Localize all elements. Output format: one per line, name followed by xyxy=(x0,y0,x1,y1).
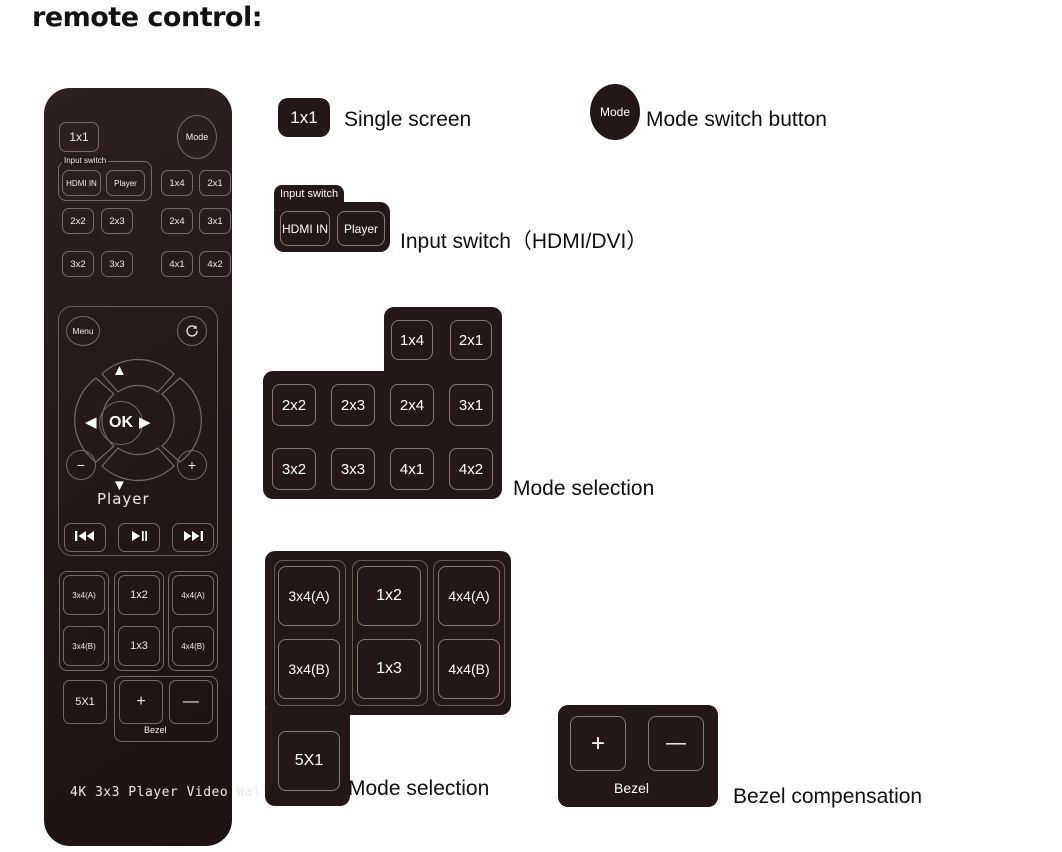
callout-key-4x4a-label: 4x4(A) xyxy=(448,588,489,604)
callout-key-3x2[interactable]: 3x2 xyxy=(272,448,316,490)
remote-key-5x1[interactable]: 5X1 xyxy=(63,680,107,724)
remote-key-3x4a[interactable]: 3x4(A) xyxy=(63,575,105,615)
remote-key-ok[interactable]: OK xyxy=(99,401,143,445)
callout-key-bezel-plus-label: + xyxy=(591,730,605,758)
remote-key-4x4b-label: 4x4(B) xyxy=(181,642,205,651)
callout-key-5x1-label: 5X1 xyxy=(295,752,323,770)
callout-key-player-src-label: Player xyxy=(344,222,378,236)
callout-key-3x1[interactable]: 3x1 xyxy=(449,384,493,426)
callout-single-screen-text: Single screen xyxy=(344,108,471,132)
remote-key-1x4[interactable]: 1x4 xyxy=(161,170,193,196)
remote-key-bezel-minus[interactable]: — xyxy=(169,680,213,724)
remote-key-1x1-label: 1x1 xyxy=(69,130,88,144)
callout-key-4x4a[interactable]: 4x4(A) xyxy=(438,566,500,626)
remote-input-switch-group-label: Input switch xyxy=(62,156,108,165)
remote-key-bezel-minus-label: — xyxy=(183,693,199,711)
callout-key-3x4a[interactable]: 3x4(A) xyxy=(278,566,340,626)
remote-key-4x2[interactable]: 4x2 xyxy=(199,251,231,277)
remote-key-2x4[interactable]: 2x4 xyxy=(161,208,193,234)
callout-input-switch-group-label: Input switch xyxy=(280,188,338,200)
remote-key-hdmi-in[interactable]: HDMI IN xyxy=(62,170,101,196)
remote-key-2x2-label: 2x2 xyxy=(70,216,85,227)
dpad-left-icon[interactable]: ◀ xyxy=(85,415,97,430)
remote-key-1x3-label: 1x3 xyxy=(130,640,148,652)
callout-key-2x3[interactable]: 2x3 xyxy=(331,384,375,426)
remote-key-volume-minus-label: − xyxy=(77,457,85,473)
remote-key-3x1-label: 3x1 xyxy=(207,216,222,227)
remote-key-4x1-label: 4x1 xyxy=(169,259,184,270)
remote-key-volume-plus[interactable]: + xyxy=(177,450,207,480)
remote-key-5x1-label: 5X1 xyxy=(75,696,95,708)
remote-key-2x1-label: 2x1 xyxy=(207,178,222,189)
callout-key-4x1-label: 4x1 xyxy=(400,461,424,478)
remote-control-body: 1x1 Mode Input switch HDMI IN Player 1x4… xyxy=(44,88,232,846)
remote-key-4x4a[interactable]: 4x4(A) xyxy=(172,575,214,615)
remote-key-2x3-label: 2x3 xyxy=(109,216,124,227)
callout-input-switch-text: Input switch（HDMI/DVI） xyxy=(400,225,647,255)
previous-track-icon xyxy=(74,530,96,545)
callout-key-bezel-minus-label: — xyxy=(666,732,686,755)
callout-key-1x3-label: 1x3 xyxy=(376,660,402,678)
callout-key-5x1[interactable]: 5X1 xyxy=(278,731,340,791)
remote-key-ok-label: OK xyxy=(109,414,133,432)
remote-key-1x3[interactable]: 1x3 xyxy=(118,626,160,666)
callout-key-3x2-label: 3x2 xyxy=(282,461,306,478)
remote-model-label: 4K 3x3 Player Video Wall xyxy=(70,785,270,800)
remote-key-3x4a-label: 3x4(A) xyxy=(72,591,96,600)
remote-key-hdmi-in-label: HDMI IN xyxy=(66,179,97,188)
remote-key-3x3-label: 3x3 xyxy=(109,259,124,270)
callout-key-3x4a-label: 3x4(A) xyxy=(288,588,329,604)
remote-key-bezel-plus-label: + xyxy=(136,693,145,711)
callout-key-2x2[interactable]: 2x2 xyxy=(272,384,316,426)
dpad-right-icon[interactable]: ▶ xyxy=(139,415,151,430)
dpad-up-icon[interactable]: ▲ xyxy=(112,363,127,378)
remote-key-player-src[interactable]: Player xyxy=(106,170,145,196)
callout-key-3x4b[interactable]: 3x4(B) xyxy=(278,639,340,699)
remote-key-2x4-label: 2x4 xyxy=(169,216,184,227)
remote-key-player-src-label: Player xyxy=(114,179,137,188)
remote-bezel-label: Bezel xyxy=(144,725,167,735)
callout-key-2x1[interactable]: 2x1 xyxy=(450,320,492,360)
callout-key-4x4b-label: 4x4(B) xyxy=(448,661,489,677)
remote-key-bezel-plus[interactable]: + xyxy=(119,680,163,724)
callout-key-1x4[interactable]: 1x4 xyxy=(391,320,433,360)
callout-key-2x4[interactable]: 2x4 xyxy=(390,384,434,426)
callout-key-bezel-plus[interactable]: + xyxy=(570,716,626,771)
remote-key-1x4-label: 1x4 xyxy=(169,178,184,189)
remote-key-3x4b[interactable]: 3x4(B) xyxy=(63,626,105,666)
callout-mode-switch-text: Mode switch button xyxy=(646,108,827,132)
callout-single-screen-key-label: 1x1 xyxy=(278,98,330,137)
callout-single-screen-key[interactable]: 1x1 xyxy=(278,98,330,137)
callout-key-3x3-label: 3x3 xyxy=(341,461,365,478)
remote-key-1x2[interactable]: 1x2 xyxy=(118,575,160,615)
remote-key-play-pause[interactable] xyxy=(118,523,160,552)
callout-mode-selection-bottom-text: Mode selection xyxy=(348,777,489,801)
remote-key-4x1[interactable]: 4x1 xyxy=(161,251,193,277)
callout-key-1x2-label: 1x2 xyxy=(376,587,402,605)
remote-key-3x2[interactable]: 3x2 xyxy=(62,251,94,277)
remote-key-3x1[interactable]: 3x1 xyxy=(199,208,231,234)
callout-bezel-label: Bezel xyxy=(614,780,649,796)
callout-key-2x3-label: 2x3 xyxy=(341,397,365,414)
page-title: remote control: xyxy=(32,2,262,33)
callout-key-player-src[interactable]: Player xyxy=(337,211,385,246)
remote-key-1x2-label: 1x2 xyxy=(130,589,148,601)
callout-key-2x2-label: 2x2 xyxy=(282,397,306,414)
callout-key-hdmi-in-label: HDMI IN xyxy=(282,222,328,236)
play-pause-icon xyxy=(129,530,149,545)
remote-key-3x4b-label: 3x4(B) xyxy=(72,642,96,651)
remote-key-2x1[interactable]: 2x1 xyxy=(199,170,231,196)
remote-key-mode-label: Mode xyxy=(186,132,209,142)
remote-key-3x3[interactable]: 3x3 xyxy=(101,251,133,277)
callout-key-1x2[interactable]: 1x2 xyxy=(357,566,421,626)
callout-mode-switch-key[interactable]: Mode xyxy=(590,84,640,140)
callout-key-3x3[interactable]: 3x3 xyxy=(331,448,375,490)
remote-key-volume-plus-label: + xyxy=(188,457,196,473)
remote-key-4x4a-label: 4x4(A) xyxy=(181,591,205,600)
remote-key-previous[interactable] xyxy=(64,523,106,552)
callout-bezel-text: Bezel compensation xyxy=(733,785,922,809)
callout-key-2x1-label: 2x1 xyxy=(459,332,483,349)
remote-key-2x3[interactable]: 2x3 xyxy=(101,208,133,234)
callout-key-bezel-minus[interactable]: — xyxy=(648,716,704,771)
remote-player-section-label: Player xyxy=(97,490,150,508)
callout-key-2x4-label: 2x4 xyxy=(400,397,424,414)
callout-key-3x4b-label: 3x4(B) xyxy=(288,661,329,677)
remote-key-mode[interactable]: Mode xyxy=(177,115,217,159)
callout-mode-selection-top-text: Mode selection xyxy=(513,477,654,501)
remote-key-4x4b[interactable]: 4x4(B) xyxy=(172,626,214,666)
callout-key-4x1[interactable]: 4x1 xyxy=(390,448,434,490)
callout-key-4x4b[interactable]: 4x4(B) xyxy=(438,639,500,699)
remote-key-next[interactable] xyxy=(172,523,214,552)
callout-mode-switch-key-label: Mode xyxy=(600,105,630,119)
remote-key-1x1[interactable]: 1x1 xyxy=(59,122,99,152)
remote-key-2x2[interactable]: 2x2 xyxy=(62,208,94,234)
callout-key-1x4-label: 1x4 xyxy=(400,332,424,349)
next-track-icon xyxy=(182,530,204,545)
remote-key-4x2-label: 4x2 xyxy=(207,259,222,270)
remote-key-volume-minus[interactable]: − xyxy=(66,450,96,480)
callout-key-1x3[interactable]: 1x3 xyxy=(357,639,421,699)
callout-key-3x1-label: 3x1 xyxy=(459,397,483,414)
callout-key-hdmi-in[interactable]: HDMI IN xyxy=(280,211,330,246)
callout-key-4x2-label: 4x2 xyxy=(459,461,483,478)
remote-key-3x2-label: 3x2 xyxy=(70,259,85,270)
callout-key-4x2[interactable]: 4x2 xyxy=(449,448,493,490)
